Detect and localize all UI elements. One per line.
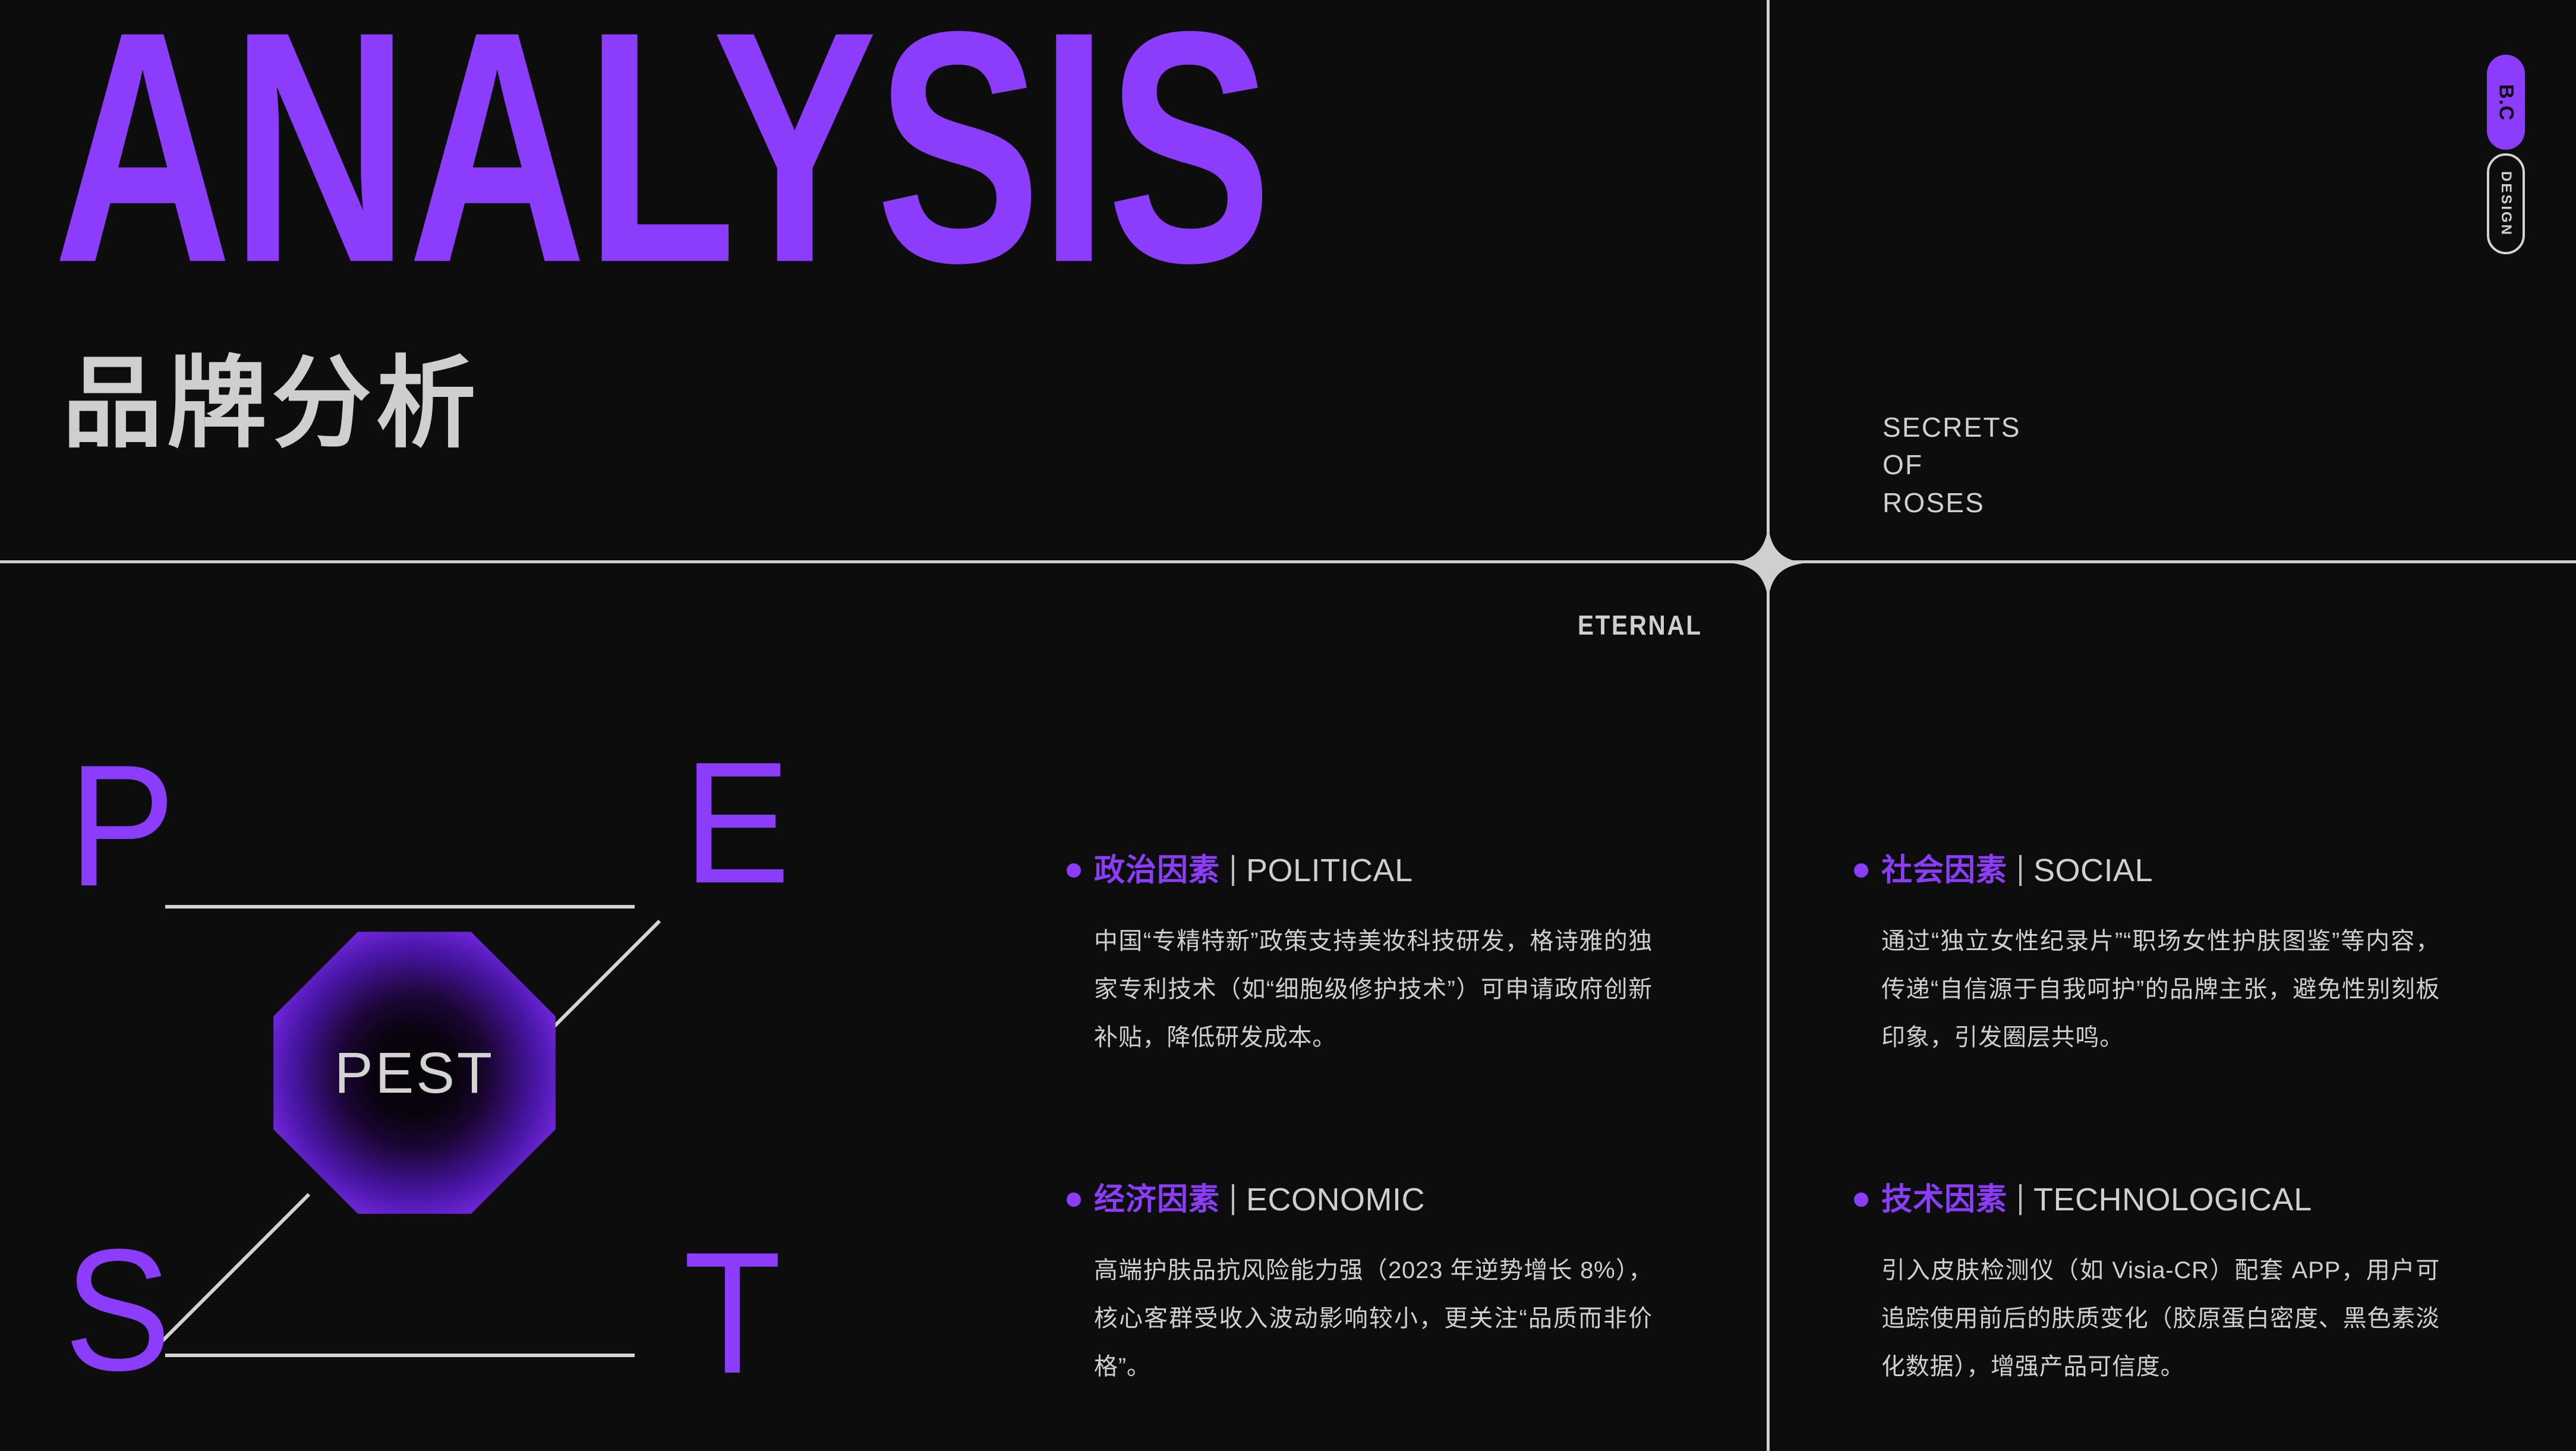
heading-separator — [2019, 855, 2022, 886]
factor-heading-cn: 社会因素 — [1881, 855, 2007, 886]
factor-block-political: 政治因素 POLITICAL 中国“专精特新”政策支持美妆科技研发，格诗雅的独家… — [1067, 854, 1667, 1061]
horizontal-divider — [0, 560, 2576, 563]
bullet-icon — [1067, 1193, 1081, 1207]
brand-badge[interactable]: B.C — [2487, 55, 2525, 150]
factor-heading-en: ECONOMIC — [1246, 1184, 1425, 1216]
kicker-text: SECRETS OF ROSES — [1883, 409, 2021, 522]
factor-heading-en: SOCIAL — [2033, 854, 2153, 887]
eternal-label: ETERNAL — [1578, 609, 1702, 641]
factor-block-economic: 经济因素 ECONOMIC 高端护肤品抗风险能力强（2023 年逆势增长 8%）… — [1067, 1184, 1667, 1390]
factor-heading-en: TECHNOLOGICAL — [2033, 1184, 2312, 1216]
sparkle-icon — [1731, 526, 1805, 600]
factor-heading-cn: 经济因素 — [1094, 1184, 1220, 1215]
factor-heading-cn: 技术因素 — [1881, 1184, 2007, 1215]
pest-line-top — [165, 905, 635, 909]
pest-corner-e: E — [683, 737, 790, 910]
factor-heading: 政治因素 POLITICAL — [1067, 854, 1667, 887]
heading-separator — [2019, 1184, 2022, 1215]
heading-separator — [1232, 855, 1234, 886]
pest-corner-s: S — [64, 1224, 171, 1398]
pest-corner-t: T — [683, 1227, 781, 1400]
bullet-icon — [1067, 863, 1081, 878]
bullet-icon — [1854, 863, 1868, 878]
factor-block-technological: 技术因素 TECHNOLOGICAL 引入皮肤检测仪（如 Visia-CR）配套… — [1854, 1184, 2454, 1390]
pest-center-label: PEST — [273, 932, 556, 1214]
vertical-divider-bottom — [1767, 563, 1770, 1451]
factor-body-text: 高端护肤品抗风险能力强（2023 年逆势增长 8%），核心客群受收入波动影响较小… — [1094, 1247, 1653, 1390]
factor-heading-en: POLITICAL — [1246, 854, 1413, 887]
page-subtitle: 品牌分析 — [62, 354, 481, 453]
factor-body-text: 中国“专精特新”政策支持美妆科技研发，格诗雅的独家专利技术（如“细胞级修护技术”… — [1094, 917, 1653, 1061]
page-title: ANALYSIS — [53, 0, 1270, 313]
pest-corner-p: P — [68, 740, 175, 913]
heading-separator — [1232, 1184, 1234, 1215]
factor-heading: 经济因素 ECONOMIC — [1067, 1184, 1667, 1216]
factor-body-text: 通过“独立女性纪录片”“职场女性护肤图鉴”等内容，传递“自信源于自我呵护”的品牌… — [1881, 917, 2440, 1061]
kicker-line-2: OF — [1883, 446, 2021, 484]
factor-body-text: 引入皮肤检测仪（如 Visia-CR）配套 APP，用户可追踪使用前后的肤质变化… — [1881, 1247, 2440, 1390]
kicker-line-3: ROSES — [1883, 484, 2021, 522]
brand-badge-label: B.C — [2495, 84, 2518, 121]
vertical-divider-top — [1767, 0, 1770, 560]
pest-octagon: PEST — [273, 932, 556, 1214]
badge-group: B.C DESIGN — [2487, 55, 2525, 254]
factor-heading: 技术因素 TECHNOLOGICAL — [1854, 1184, 2454, 1216]
bullet-icon — [1854, 1193, 1868, 1207]
factor-heading: 社会因素 SOCIAL — [1854, 854, 2454, 887]
design-badge-label: DESIGN — [2498, 171, 2514, 236]
factor-heading-cn: 政治因素 — [1094, 855, 1220, 886]
pest-diagram: P E S T PEST — [0, 701, 879, 1451]
factor-block-social: 社会因素 SOCIAL 通过“独立女性纪录片”“职场女性护肤图鉴”等内容，传递“… — [1854, 854, 2454, 1061]
kicker-line-1: SECRETS — [1883, 409, 2021, 446]
pest-line-bottom — [165, 1354, 635, 1357]
design-badge[interactable]: DESIGN — [2487, 153, 2525, 254]
